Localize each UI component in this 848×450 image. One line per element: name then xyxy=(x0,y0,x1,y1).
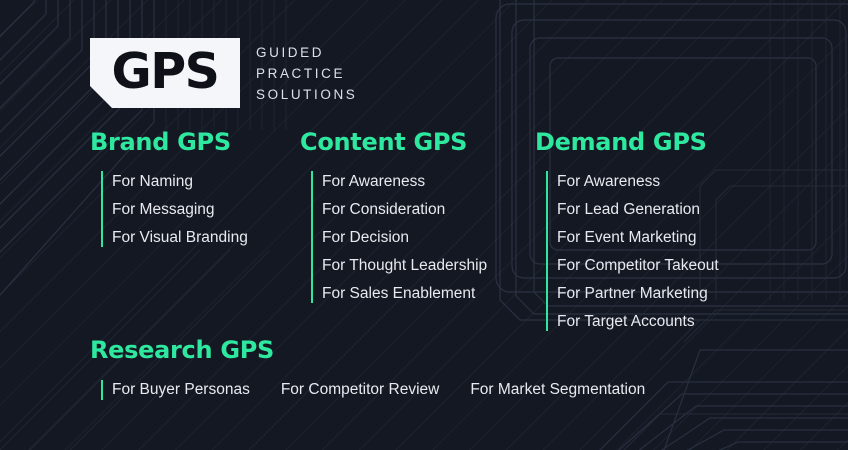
column-list-brand: For Naming For Messaging For Visual Bran… xyxy=(90,168,248,252)
column-list-demand: For Awareness For Lead Generation For Ev… xyxy=(535,168,719,336)
column-brand-gps: Brand GPS For Naming For Messaging For V… xyxy=(90,130,248,252)
list-item[interactable]: For Event Marketing xyxy=(557,224,719,252)
column-list-content: For Awareness For Consideration For Deci… xyxy=(300,168,487,308)
list-item[interactable]: For Market Segmentation xyxy=(470,376,645,403)
column-heading-demand: Demand GPS xyxy=(535,130,719,154)
list-item[interactable]: For Sales Enablement xyxy=(322,280,487,308)
list-item[interactable]: For Naming xyxy=(112,168,248,196)
logo-tagline-line-2: PRACTICE xyxy=(256,63,357,84)
list-item[interactable]: For Decision xyxy=(322,224,487,252)
list-item[interactable]: For Buyer Personas xyxy=(112,376,250,403)
list-item[interactable]: For Thought Leadership xyxy=(322,252,487,280)
brand-logo: GPS GUIDED PRACTICE SOLUTIONS xyxy=(90,38,357,108)
logo-panel: GPS xyxy=(90,38,240,108)
list-item[interactable]: For Consideration xyxy=(322,196,487,224)
column-heading-brand: Brand GPS xyxy=(90,130,248,154)
row-research-gps: Research GPS For Buyer Personas For Comp… xyxy=(90,338,645,403)
list-item[interactable]: For Competitor Takeout xyxy=(557,252,719,280)
logo-tagline: GUIDED PRACTICE SOLUTIONS xyxy=(256,38,357,105)
column-demand-gps: Demand GPS For Awareness For Lead Genera… xyxy=(535,130,719,336)
column-heading-content: Content GPS xyxy=(300,130,487,154)
infographic-canvas: GPS GUIDED PRACTICE SOLUTIONS Brand GPS … xyxy=(0,0,848,450)
column-content-gps: Content GPS For Awareness For Considerat… xyxy=(300,130,487,308)
list-item[interactable]: For Messaging xyxy=(112,196,248,224)
list-item[interactable]: For Competitor Review xyxy=(281,376,440,403)
list-item[interactable]: For Awareness xyxy=(557,168,719,196)
logo-tagline-line-1: GUIDED xyxy=(256,42,357,63)
list-item[interactable]: For Target Accounts xyxy=(557,308,719,336)
list-item[interactable]: For Visual Branding xyxy=(112,224,248,252)
list-item[interactable]: For Awareness xyxy=(322,168,487,196)
logo-tagline-line-3: SOLUTIONS xyxy=(256,84,357,105)
logo-wordmark: GPS xyxy=(112,47,219,96)
list-item[interactable]: For Lead Generation xyxy=(557,196,719,224)
list-item[interactable]: For Partner Marketing xyxy=(557,280,719,308)
research-list: For Buyer Personas For Competitor Review… xyxy=(90,376,645,403)
column-heading-research: Research GPS xyxy=(90,338,645,362)
